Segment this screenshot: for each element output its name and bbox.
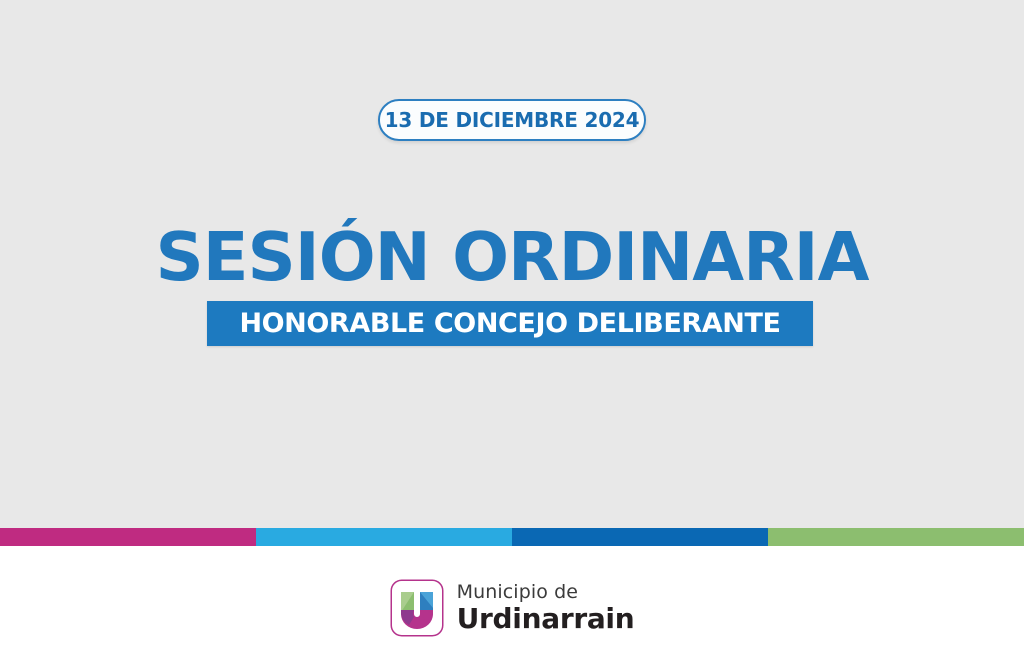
date-badge: 13 DE DICIEMBRE 2024 [378, 99, 646, 141]
date-badge-label: 13 DE DICIEMBRE 2024 [385, 108, 640, 132]
color-strip-segment-blue [512, 528, 768, 546]
footer: Municipio de Urdinarrain [0, 546, 1024, 660]
subtitle-text: HONORABLE CONCEJO DELIBERANTE [239, 308, 780, 339]
presentation-slide: 13 DE DICIEMBRE 2024 SESIÓN ORDINARIA HO… [0, 0, 1024, 660]
municipality-logo: Municipio de Urdinarrain [390, 579, 635, 637]
color-strip [0, 528, 1024, 546]
color-strip-segment-green [768, 528, 1024, 546]
color-strip-segment-cyan [256, 528, 512, 546]
logo-wordmark: Municipio de Urdinarrain [457, 583, 635, 633]
subtitle-banner: HONORABLE CONCEJO DELIBERANTE [207, 301, 813, 346]
page-title: SESIÓN ORDINARIA [0, 222, 1024, 292]
logo-wordmark-line2: Urdinarrain [457, 605, 635, 633]
logo-wordmark-line1: Municipio de [457, 583, 635, 602]
color-strip-segment-magenta [0, 528, 256, 546]
urdinarrain-u-logo-icon [390, 579, 444, 637]
page-title-text: SESIÓN ORDINARIA [156, 222, 869, 292]
